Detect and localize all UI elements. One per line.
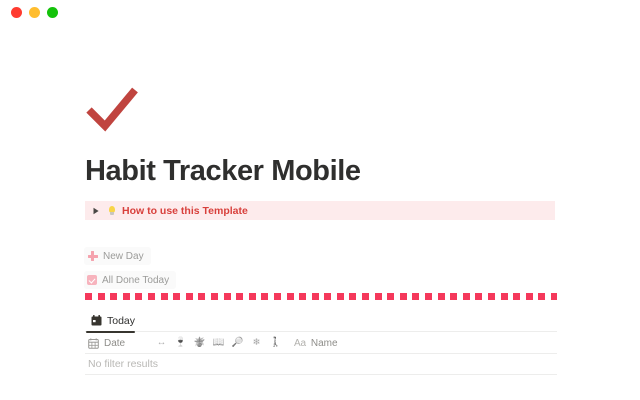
table-header-row: Date ↔ 🍷 🪴 📖 🔎 ❄ [85, 333, 557, 354]
column-header-habit-6[interactable]: ❄ [247, 333, 266, 354]
divider-dash [526, 293, 533, 300]
calendar-icon [91, 315, 102, 326]
divider-dash [387, 293, 394, 300]
book-icon: 📖 [213, 338, 225, 348]
column-header-date[interactable]: Date [85, 333, 152, 354]
divider-dash [551, 293, 557, 300]
maximize-window-button[interactable] [47, 7, 58, 18]
minimize-window-button[interactable] [29, 7, 40, 18]
arrows-horizontal-icon: ↔ [157, 338, 167, 348]
search-icon: 🔎 [232, 338, 244, 348]
divider-dash [85, 293, 92, 300]
divider-dash [412, 293, 419, 300]
column-header-habit-1[interactable]: ↔ [152, 333, 171, 354]
dashed-divider [85, 293, 557, 300]
lightbulb-emoji [107, 205, 118, 217]
divider-dash [110, 293, 117, 300]
traffic-light-buttons [11, 7, 58, 18]
all-done-today-button-label: All Done Today [102, 275, 169, 286]
divider-dash [425, 293, 432, 300]
database-view-tabs: Today [85, 311, 557, 332]
people-icon: 🚶 [270, 338, 282, 348]
page-content: Habit Tracker Mobile How to use this Tem… [0, 24, 640, 400]
divider-dash [324, 293, 331, 300]
divider-dash [375, 293, 382, 300]
column-header-date-label: Date [104, 338, 125, 349]
divider-dash [148, 293, 155, 300]
divider-dash [161, 293, 168, 300]
habits-table: Date ↔ 🍷 🪴 📖 🔎 ❄ [85, 333, 557, 375]
divider-dash [198, 293, 205, 300]
divider-dash [98, 293, 105, 300]
divider-dash [362, 293, 369, 300]
new-day-button[interactable]: New Day [84, 247, 151, 265]
divider-dash [513, 293, 520, 300]
all-done-today-button-row: All Done Today [84, 271, 176, 289]
triangle-right-icon[interactable] [89, 204, 103, 218]
new-day-button-row: New Day [84, 247, 151, 265]
divider-dash [538, 293, 545, 300]
divider-dash [475, 293, 482, 300]
new-day-button-label: New Day [103, 251, 144, 262]
divider-dash [501, 293, 508, 300]
column-header-name[interactable]: Aa Name [285, 333, 338, 354]
divider-dash [224, 293, 231, 300]
divider-dash [488, 293, 495, 300]
divider-dash [287, 293, 294, 300]
divider-dash [135, 293, 142, 300]
divider-dash [349, 293, 356, 300]
tab-today[interactable]: Today [85, 311, 141, 330]
text-aa-icon: Aa [294, 338, 306, 349]
divider-dash [400, 293, 407, 300]
divider-dash [211, 293, 218, 300]
callout-label: How to use this Template [122, 205, 248, 217]
divider-dash [312, 293, 319, 300]
tab-today-label: Today [107, 315, 135, 327]
column-header-habit-7[interactable]: 🚶 [266, 333, 285, 354]
all-done-today-button[interactable]: All Done Today [84, 271, 176, 289]
wine-glass-icon: 🍷 [175, 338, 187, 348]
app-window: Habit Tracker Mobile How to use this Tem… [0, 0, 640, 400]
column-header-habit-2[interactable]: 🍷 [171, 333, 190, 354]
table-empty-state-row: No filter results [85, 354, 557, 375]
divider-dash [123, 293, 130, 300]
checkbox-checked-icon [87, 275, 97, 285]
divider-dash [463, 293, 470, 300]
column-header-name-label: Name [311, 338, 338, 349]
checkmark-icon[interactable] [86, 86, 138, 134]
divider-dash [173, 293, 180, 300]
divider-dash [450, 293, 457, 300]
divider-dash [236, 293, 243, 300]
page-title[interactable]: Habit Tracker Mobile [85, 154, 361, 189]
divider-dash [261, 293, 268, 300]
how-to-use-callout[interactable]: How to use this Template [85, 201, 555, 220]
snowflake-icon: ❄ [253, 338, 261, 348]
window-titlebar [0, 0, 640, 24]
plant-icon: 🪴 [194, 338, 206, 348]
plus-icon [87, 251, 98, 262]
divider-dash [274, 293, 281, 300]
divider-dash [438, 293, 445, 300]
close-window-button[interactable] [11, 7, 22, 18]
column-header-habit-3[interactable]: 🪴 [190, 333, 209, 354]
divider-dash [337, 293, 344, 300]
divider-dash [299, 293, 306, 300]
column-header-habit-4[interactable]: 📖 [209, 333, 228, 354]
empty-state-label: No filter results [88, 358, 158, 370]
divider-dash [186, 293, 193, 300]
calendar-grid-icon [88, 338, 99, 349]
divider-dash [249, 293, 256, 300]
column-header-habit-5[interactable]: 🔎 [228, 333, 247, 354]
